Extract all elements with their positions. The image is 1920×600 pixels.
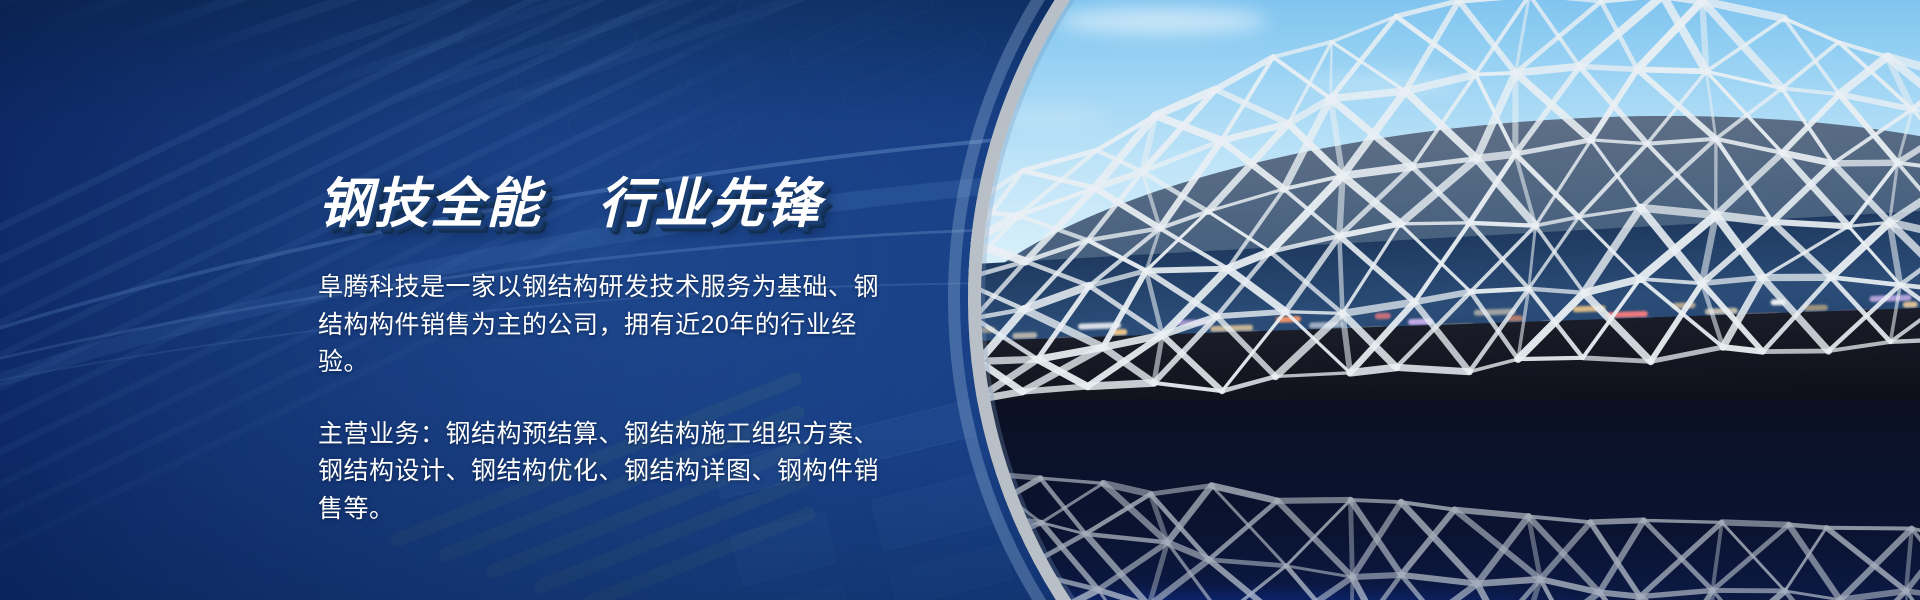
hero-banner: 钢技全能 行业先锋 阜腾科技是一家以钢结构研发技术服务为基础、钢结构构件销售为主… — [0, 0, 1920, 600]
banner-headline: 钢技全能 行业先锋 — [318, 176, 918, 233]
lattice-reflection — [968, 473, 1920, 600]
banner-paragraph-2: 主营业务：钢结构预结算、钢结构施工组织方案、钢结构设计、钢结构优化、钢结构详图、… — [318, 416, 893, 529]
banner-paragraph-1: 阜腾科技是一家以钢结构研发技术服务为基础、钢结构构件销售为主的公司，拥有近20年… — [318, 269, 893, 382]
birds-nest-stadium-photo — [968, 0, 1920, 600]
banner-copy: 钢技全能 行业先锋 阜腾科技是一家以钢结构研发技术服务为基础、钢结构构件销售为主… — [318, 176, 918, 528]
lattice-upper — [968, 0, 1920, 400]
circular-photo-mask — [968, 0, 1920, 600]
stadium-steel-lattice — [968, 0, 1920, 600]
